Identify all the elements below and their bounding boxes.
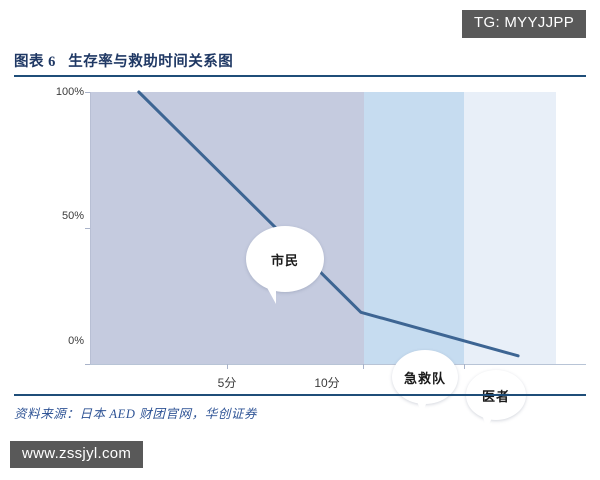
- chart-footer: 资料来源：日本 AED 财团官网，华创证券: [14, 394, 586, 422]
- title-divider: [14, 75, 586, 77]
- annotation-bubble-citizen-label: 市民: [271, 250, 299, 269]
- page-title: 图表 6 生存率与救助时间关系图: [14, 50, 586, 75]
- bubble-tail-icon: [256, 278, 276, 304]
- source-note: 资料来源：日本 AED 财团官网，华创证券: [14, 403, 586, 422]
- series-polyline: [139, 92, 518, 356]
- annotation-bubble-ems-label: 急救队: [404, 368, 446, 387]
- site-watermark-badge: www.zssjyl.com: [10, 441, 143, 469]
- chart-container: 100% 50% 0% 5分 10分 15分 市民 急救队 医者: [0, 80, 600, 390]
- chart-header: 图表 6 生存率与救助时间关系图: [14, 50, 586, 77]
- footer-divider: [14, 394, 586, 396]
- annotation-bubble-citizen: 市民: [246, 226, 324, 292]
- telegram-watermark-badge: TG: MYYJJPP: [462, 10, 586, 38]
